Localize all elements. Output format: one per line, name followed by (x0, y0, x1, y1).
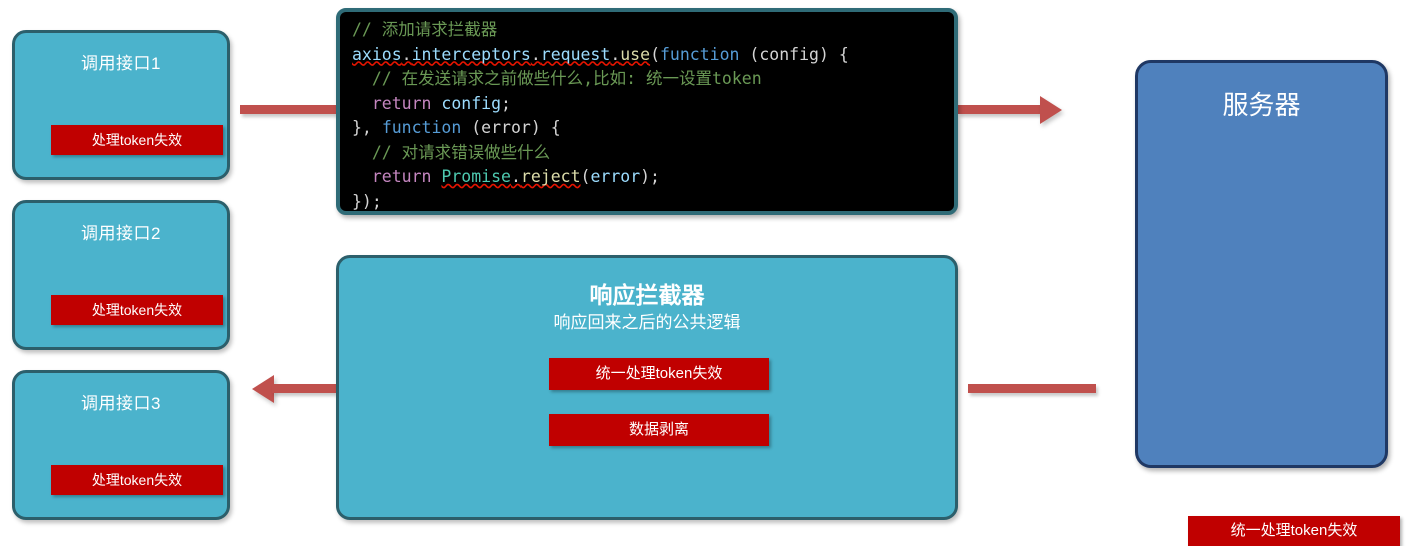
client-box-title: 调用接口1 (15, 49, 227, 74)
server-box: 服务器 (1135, 60, 1388, 468)
arrow-client-to-request-interceptor (240, 105, 336, 114)
handle-token-expiry-button[interactable]: 处理token失效 (51, 465, 223, 495)
code-content: // 添加请求拦截器 axios.interceptors.request.us… (352, 18, 954, 214)
response-interceptor-title: 响应拦截器 (339, 276, 955, 310)
data-stripping-button[interactable]: 数据剥离 (549, 414, 769, 446)
client-box-2: 调用接口2 处理token失效 (12, 200, 230, 350)
client-box-3: 调用接口3 处理token失效 (12, 370, 230, 520)
handle-token-expiry-button[interactable]: 处理token失效 (51, 295, 223, 325)
client-box-title: 调用接口3 (15, 389, 227, 414)
server-title: 服务器 (1138, 85, 1385, 122)
arrow-server-to-response-interceptor (968, 384, 1096, 393)
client-box-title: 调用接口2 (15, 219, 227, 244)
arrow-request-interceptor-to-server-head (1040, 96, 1062, 124)
response-interceptor-subtitle: 响应回来之后的公共逻辑 (339, 308, 955, 333)
unified-token-expiry-button[interactable]: 统一处理token失效 (549, 358, 769, 390)
handle-token-expiry-button[interactable]: 处理token失效 (51, 125, 223, 155)
cutoff-note-button[interactable]: 统一处理token失效 (1188, 516, 1400, 546)
response-interceptor-box: 响应拦截器 响应回来之后的公共逻辑 统一处理token失效 数据剥离 (336, 255, 958, 520)
client-box-1: 调用接口1 处理token失效 (12, 30, 230, 180)
request-interceptor-code-block: // 添加请求拦截器 axios.interceptors.request.us… (336, 8, 958, 215)
arrow-request-interceptor-to-server-line (958, 105, 1042, 114)
arrow-response-interceptor-to-client-head (252, 375, 274, 403)
arrow-response-interceptor-to-client-line (272, 384, 336, 393)
diagram-canvas: 调用接口1 处理token失效 调用接口2 处理token失效 调用接口3 处理… (0, 0, 1412, 530)
